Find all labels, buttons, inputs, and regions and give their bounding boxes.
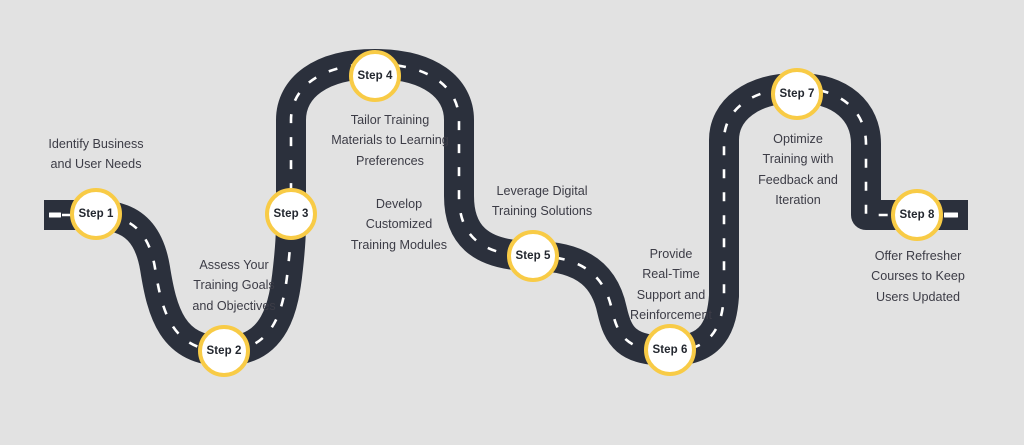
step-node-label: Step 3 xyxy=(273,208,308,220)
step-node-label: Step 6 xyxy=(652,344,687,356)
step-node-3[interactable]: Step 3 xyxy=(265,188,317,240)
step-node-1[interactable]: Step 1 xyxy=(70,188,122,240)
step-node-label: Step 5 xyxy=(515,250,550,262)
step-node-8[interactable]: Step 8 xyxy=(891,189,943,241)
infographic-canvas: Step 1Identify Business and User NeedsSt… xyxy=(0,0,1024,445)
step-caption-4: Tailor Training Materials to Learning Pr… xyxy=(300,110,480,171)
step-node-7[interactable]: Step 7 xyxy=(771,68,823,120)
step-node-2[interactable]: Step 2 xyxy=(198,325,250,377)
step-node-label: Step 2 xyxy=(206,345,241,357)
step-caption-8: Offer Refresher Courses to Keep Users Up… xyxy=(848,246,988,307)
step-caption-5: Leverage Digital Training Solutions xyxy=(462,181,622,222)
step-node-4[interactable]: Step 4 xyxy=(349,50,401,102)
step-node-label: Step 4 xyxy=(357,70,392,82)
step-node-6[interactable]: Step 6 xyxy=(644,324,696,376)
road-path-graphic xyxy=(0,0,1024,445)
step-node-label: Step 7 xyxy=(779,88,814,100)
step-caption-2: Assess Your Training Goals and Objective… xyxy=(164,255,304,316)
step-node-label: Step 8 xyxy=(899,209,934,221)
step-caption-3: Develop Customized Training Modules xyxy=(324,194,474,255)
step-node-label: Step 1 xyxy=(78,208,113,220)
step-caption-6: Provide Real-Time Support and Reinforcem… xyxy=(600,244,742,326)
step-node-5[interactable]: Step 5 xyxy=(507,230,559,282)
step-caption-1: Identify Business and User Needs xyxy=(20,134,172,175)
step-caption-7: Optimize Training with Feedback and Iter… xyxy=(732,129,864,211)
